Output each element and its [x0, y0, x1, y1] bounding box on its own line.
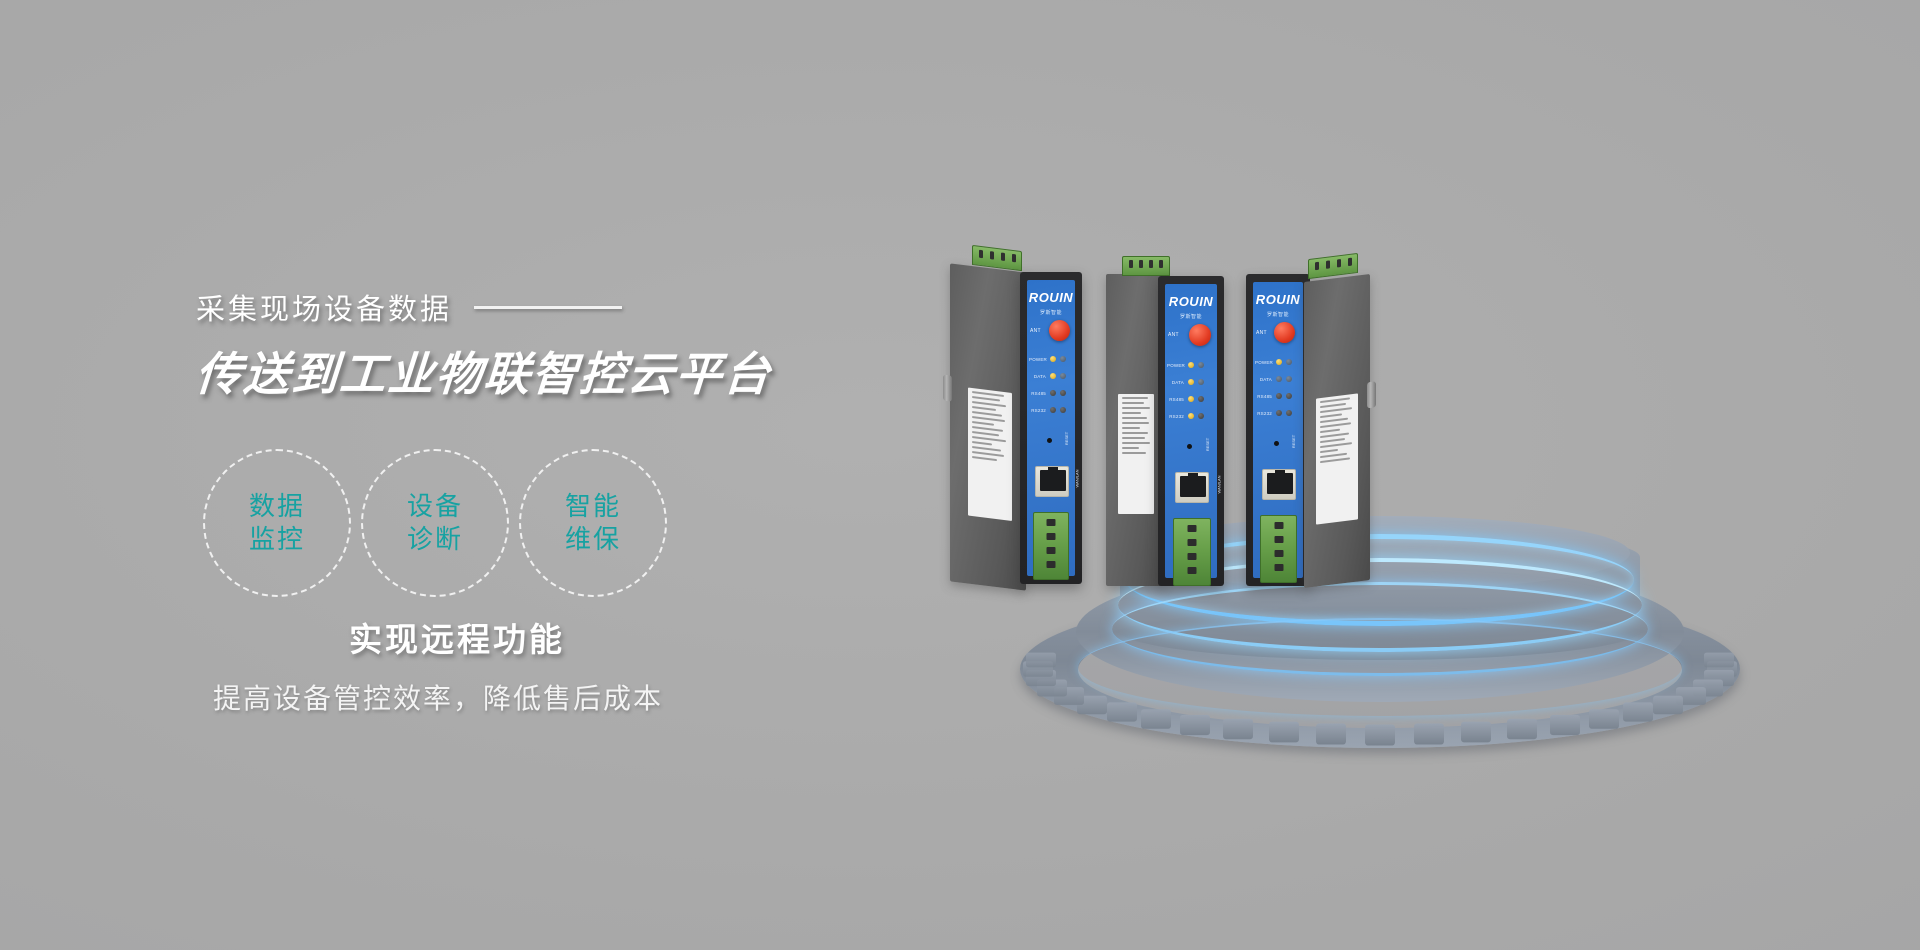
led-indicator-icon — [1060, 390, 1066, 396]
pedestal-tooth — [1180, 714, 1210, 734]
antenna-connector-icon — [1189, 324, 1211, 346]
led-indicator-icon — [1188, 413, 1194, 419]
feature-circle-smart-maintenance[interactable]: 智能 维保 — [519, 449, 667, 597]
pedestal-tooth — [1507, 719, 1537, 740]
feature-circle-device-diagnosis[interactable]: 设备 诊断 — [361, 449, 509, 597]
brand-subtitle: 罗斯智能 — [1256, 311, 1300, 318]
led-label: POWER — [1167, 363, 1184, 368]
led-indicator-icon — [1188, 362, 1194, 368]
antenna-label: ANT — [1256, 330, 1267, 336]
led-label: DATA — [1029, 374, 1046, 379]
kicker-row: 采集现场设备数据 — [196, 286, 836, 328]
led-indicator-icon — [1188, 396, 1194, 402]
led-label: RS232 — [1255, 411, 1272, 416]
led-indicator-icon — [1276, 410, 1282, 416]
promo-banner: 采集现场设备数据 传送到工业物联智控云平台 数据 监控 设备 诊断 智能 维保 … — [0, 0, 1920, 950]
ethernet-port-icon — [1262, 469, 1296, 500]
kicker-divider-line — [474, 306, 622, 309]
led-indicator-icon — [1286, 393, 1292, 399]
feature-label-line2: 维保 — [565, 523, 621, 556]
kicker-text: 采集现场设备数据 — [196, 286, 452, 328]
subheading: 实现远程功能 — [349, 613, 565, 661]
pedestal-tooth — [1365, 725, 1395, 746]
led-row-rs485: RS485 — [1029, 390, 1066, 396]
led-label: POWER — [1255, 360, 1272, 365]
device-face-plate: ROUIN 罗斯智能 ANT POWER DATA — [1165, 284, 1217, 578]
antenna-label: ANT — [1030, 328, 1041, 334]
device-chassis-side — [1304, 274, 1370, 588]
feature-circle-data-monitoring[interactable]: 数据 监控 — [203, 449, 351, 597]
ethernet-port-icon — [1175, 472, 1209, 503]
reset-button[interactable] — [1187, 444, 1192, 449]
ethernet-port-icon — [1035, 466, 1069, 497]
led-indicator-icon — [1276, 376, 1282, 382]
led-label: DATA — [1167, 380, 1184, 385]
brand-logo: ROUIN 罗斯智能 — [1169, 293, 1213, 320]
led-row-rs485: RS485 — [1167, 396, 1204, 402]
pedestal-tooth — [1316, 724, 1346, 745]
led-indicator-icon — [1276, 393, 1282, 399]
reset-button[interactable] — [1274, 441, 1279, 446]
led-row-data: DATA — [1029, 373, 1066, 379]
ethernet-label: WAN/LAN — [1075, 469, 1080, 487]
led-indicator-icon — [1286, 376, 1292, 382]
bottom-terminal-block — [1260, 515, 1297, 583]
led-row-data: DATA — [1255, 376, 1292, 382]
led-indicator-icon — [1198, 379, 1204, 385]
product-scene: ROUIN 罗斯智能 ANT POWER DATA — [1000, 200, 1760, 760]
device-front-panel: ROUIN 罗斯智能 ANT POWER DATA — [1246, 274, 1310, 586]
led-label: DATA — [1255, 377, 1272, 382]
feature-label-line2: 监控 — [249, 523, 305, 556]
page-title: 传送到工业物联智控云平台 — [194, 338, 839, 404]
feature-label-line2: 诊断 — [407, 523, 463, 556]
device-front-panel: ROUIN 罗斯智能 ANT POWER DATA — [1020, 272, 1082, 584]
led-row-data: DATA — [1167, 379, 1204, 385]
device-spec-label — [1316, 393, 1358, 524]
antenna-stub-icon — [943, 374, 952, 401]
led-indicator-icon — [1050, 390, 1056, 396]
led-row-rs232: RS232 — [1255, 410, 1292, 416]
led-indicator-icon — [1198, 362, 1204, 368]
pedestal-tooth — [1550, 714, 1580, 734]
brand-name: ROUIN — [1029, 290, 1073, 305]
device-spec-label — [968, 388, 1012, 521]
pedestal-tooth — [1704, 652, 1734, 667]
device-front-panel: ROUIN 罗斯智能 ANT POWER DATA — [1158, 276, 1224, 586]
antenna-stub-icon — [1367, 381, 1376, 408]
device-chassis-side — [950, 263, 1026, 590]
led-indicator-icon — [1276, 359, 1282, 365]
brand-logo: ROUIN 罗斯智能 — [1256, 291, 1300, 318]
led-indicator-icon — [1188, 379, 1194, 385]
led-label: POWER — [1029, 357, 1046, 362]
feature-label-line1: 设备 — [407, 490, 463, 523]
led-row-power: POWER — [1029, 356, 1066, 362]
led-indicator-icon — [1050, 373, 1056, 379]
bottom-terminal-block — [1033, 512, 1069, 580]
top-terminal-block — [1308, 253, 1358, 279]
feature-label-line1: 智能 — [565, 490, 621, 523]
antenna-connector-icon — [1049, 320, 1070, 341]
pedestal-tooth — [1461, 722, 1491, 743]
bottom-terminal-block — [1173, 518, 1211, 586]
led-indicator-icon — [1286, 410, 1292, 416]
device-face-plate: ROUIN 罗斯智能 ANT POWER DATA — [1027, 280, 1075, 576]
led-indicator-icon — [1060, 373, 1066, 379]
feature-circle-group: 数据 监控 设备 诊断 智能 维保 — [203, 449, 667, 597]
feature-label-line1: 数据 — [249, 490, 305, 523]
device-spec-label — [1118, 394, 1154, 514]
led-row-rs485: RS485 — [1255, 393, 1292, 399]
pedestal-tooth — [1026, 652, 1056, 667]
led-indicator-icon — [1060, 356, 1066, 362]
reset-button[interactable] — [1047, 438, 1052, 443]
ethernet-label: WAN/LAN — [1217, 475, 1222, 493]
led-indicator-icon — [1050, 407, 1056, 413]
led-indicator-icon — [1060, 407, 1066, 413]
brand-logo: ROUIN 罗斯智能 — [1029, 289, 1073, 316]
brand-subtitle: 罗斯智能 — [1029, 309, 1073, 316]
pedestal-tooth — [1623, 703, 1653, 722]
top-terminal-block — [1122, 256, 1170, 276]
led-label: RS232 — [1167, 414, 1184, 419]
headline-block: 采集现场设备数据 传送到工业物联智控云平台 — [196, 286, 836, 404]
led-label: RS485 — [1029, 391, 1046, 396]
led-row-power: POWER — [1255, 359, 1292, 365]
led-label: RS485 — [1167, 397, 1184, 402]
led-indicator-icon — [1286, 359, 1292, 365]
led-indicator-icon — [1050, 356, 1056, 362]
pedestal-tooth — [1269, 722, 1299, 743]
reset-label: RESET — [1291, 435, 1296, 448]
reset-label: RESET — [1205, 438, 1210, 451]
antenna-connector-icon — [1274, 322, 1295, 343]
reset-label: RESET — [1064, 432, 1069, 445]
led-indicator-icon — [1198, 413, 1204, 419]
brand-subtitle: 罗斯智能 — [1169, 313, 1213, 320]
led-row-power: POWER — [1167, 362, 1204, 368]
pedestal-tooth — [1589, 709, 1619, 729]
tagline: 提高设备管控效率，降低售后成本 — [213, 677, 663, 717]
pedestal-tooth — [1107, 703, 1137, 722]
pedestal-tooth — [1653, 695, 1683, 713]
led-indicator-icon — [1198, 396, 1204, 402]
led-row-rs232: RS232 — [1167, 413, 1204, 419]
antenna-label: ANT — [1168, 332, 1179, 338]
pedestal-tooth — [1414, 724, 1444, 745]
led-label: RS232 — [1029, 408, 1046, 413]
device-chassis-side — [1106, 274, 1164, 586]
device-face-plate: ROUIN 罗斯智能 ANT POWER DATA — [1253, 282, 1303, 578]
brand-name: ROUIN — [1256, 292, 1300, 307]
pedestal-tooth — [1141, 709, 1171, 729]
brand-name: ROUIN — [1169, 294, 1213, 309]
pedestal-tooth — [1223, 719, 1253, 740]
led-row-rs232: RS232 — [1029, 407, 1066, 413]
led-label: RS485 — [1255, 394, 1272, 399]
